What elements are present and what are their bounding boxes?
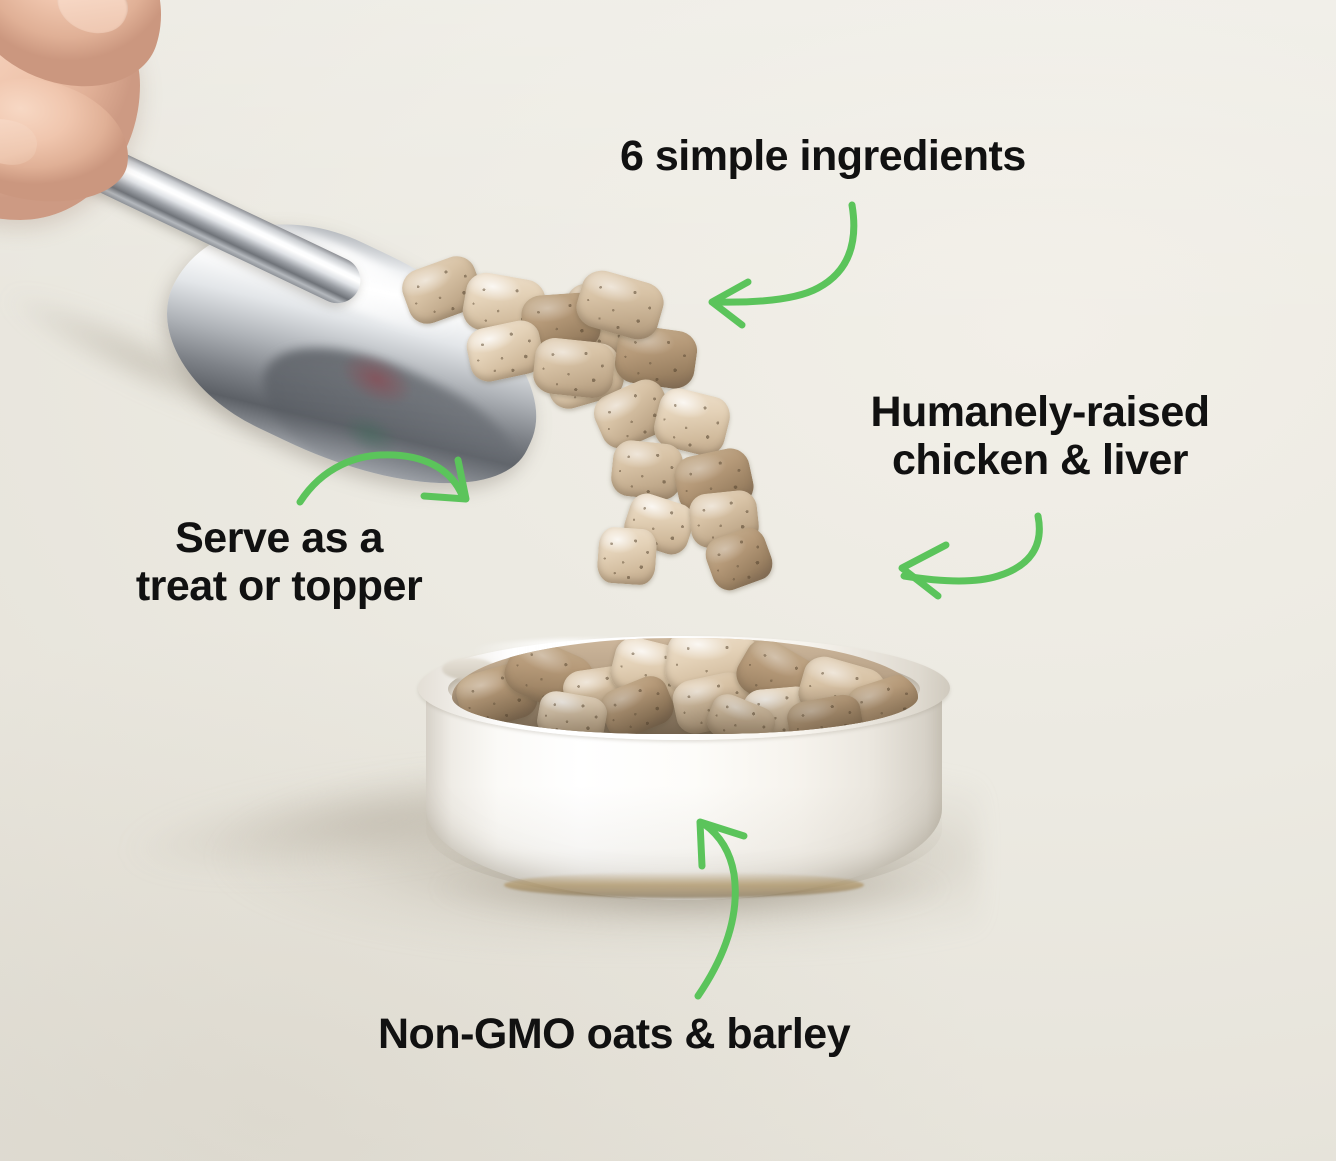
bowl-foot-ring [504,872,864,898]
white-ceramic-dog-bowl [418,636,950,904]
kibble-piece [531,336,616,400]
mound-shading [452,638,918,734]
callout-label-ingredients: 6 simple ingredients [620,132,1026,180]
bowl-kibble-mound [452,638,918,734]
hand-holding-scoop [0,0,300,270]
callout-label-serve: Serve as a treat or topper [88,514,470,610]
callout-label-chicken: Humanely-raised chicken & liver [840,388,1240,484]
callout-label-oats: Non-GMO oats & barley [378,1010,850,1058]
product-photo-callout-graphic: 6 simple ingredients Humanely-raised chi… [0,0,1336,1161]
